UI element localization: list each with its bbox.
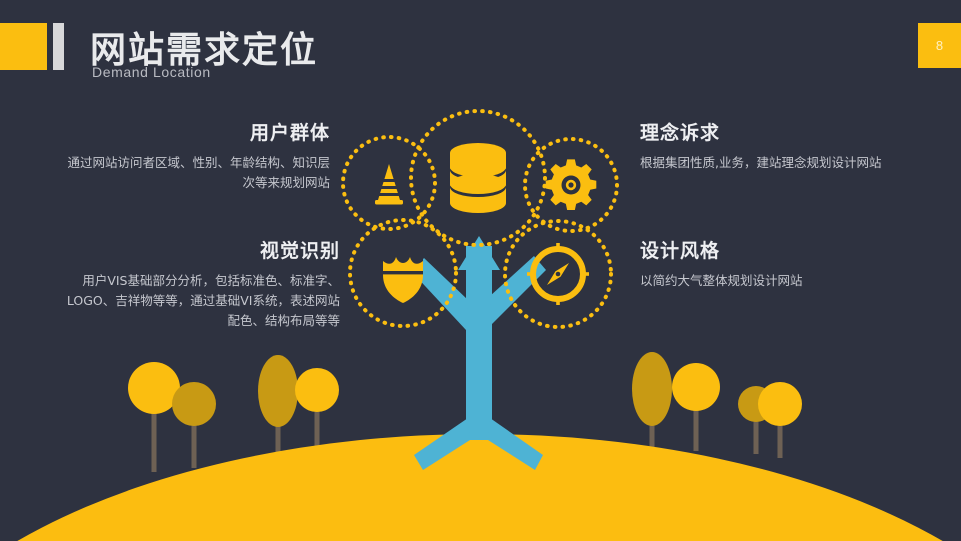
heading-design-style: 设计风格 [640, 240, 940, 264]
text-block-design-style: 设计风格 以简约大气整体规划设计网站 [640, 240, 940, 291]
body-idea-appeal: 根据集团性质,业务，建站理念规划设计网站 [640, 153, 940, 173]
heading-visual-identity: 视觉识别 [60, 240, 340, 264]
tree-trunk [152, 408, 157, 472]
tree-canopy [258, 355, 298, 427]
tree-canopy [632, 352, 672, 426]
heading-idea-appeal: 理念诉求 [640, 122, 940, 146]
tree-canopy [295, 368, 339, 412]
page-number: 8 [936, 38, 943, 53]
tree-trunk [192, 420, 197, 468]
tree-canopy [172, 382, 216, 426]
heading-user-group: 用户群体 [60, 122, 330, 146]
text-block-visual-identity: 视觉识别 用户VIS基础部分分析，包括标准色、标准字、LOGO、吉祥物等等，通过… [60, 240, 340, 332]
text-block-idea-appeal: 理念诉求 根据集团性质,业务，建站理念规划设计网站 [640, 122, 940, 173]
background-tree [672, 363, 720, 451]
tree-canopy [758, 382, 802, 426]
header-accent-bar-grey [53, 23, 64, 70]
slide-canvas: 网站需求定位 Demand Location 8 用户群体 通过网站访问者区域、… [0, 0, 961, 541]
background-tree [172, 382, 216, 468]
header-accent-bar-yellow [0, 23, 47, 70]
background-tree [758, 382, 802, 458]
tree-trunk [694, 405, 699, 451]
body-visual-identity: 用户VIS基础部分分析，包括标准色、标准字、LOGO、吉祥物等等，通过基础VI系… [60, 271, 340, 332]
body-user-group: 通过网站访问者区域、性别、年龄结构、知识层次等来规划网站 [60, 153, 330, 194]
text-block-user-group: 用户群体 通过网站访问者区域、性别、年龄结构、知识层次等来规划网站 [60, 122, 330, 193]
page-number-badge: 8 [918, 23, 961, 68]
tree-canopy [672, 363, 720, 411]
body-design-style: 以简约大气整体规划设计网站 [640, 271, 940, 291]
tree-trunk [315, 406, 320, 448]
page-subtitle: Demand Location [92, 64, 211, 80]
background-tree [295, 368, 339, 448]
